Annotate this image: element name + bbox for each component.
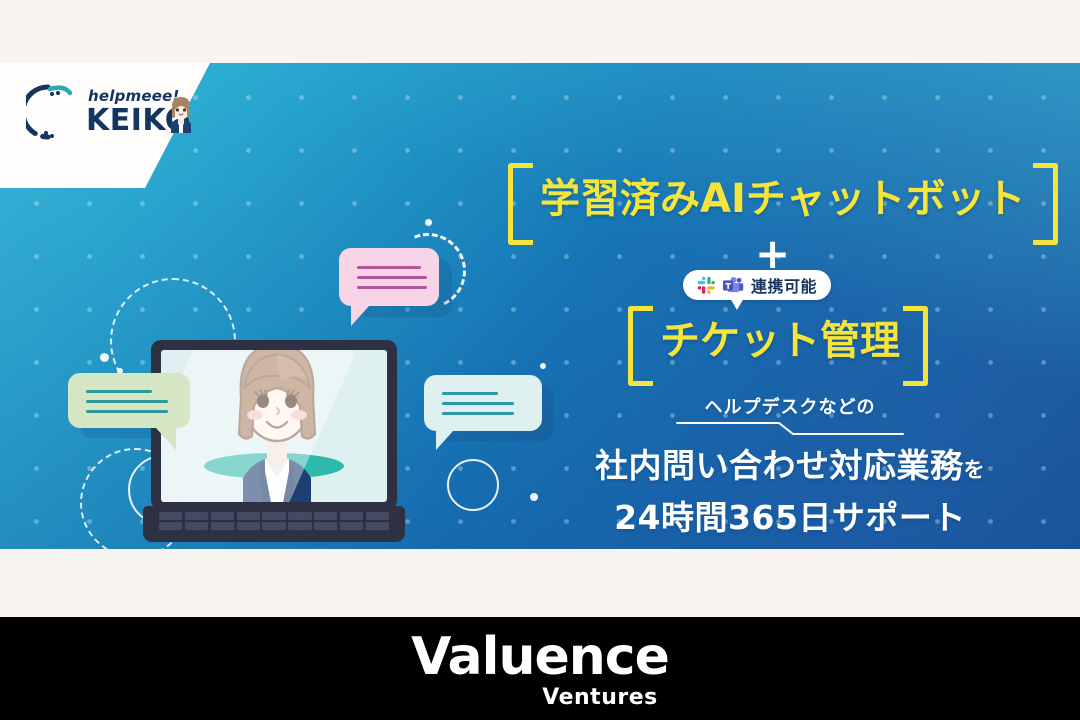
tagline-line-1: 社内問い合わせ対応業務を (500, 439, 1080, 487)
female-operator-avatar-icon (166, 95, 196, 133)
bracket-right-2-icon (903, 306, 928, 386)
tagline-small: ヘルプデスクなどの (500, 393, 1080, 419)
laptop-keyboard (159, 512, 389, 530)
sparkle-dot-3-icon (425, 219, 432, 226)
integration-badge[interactable]: 連携可能 (683, 270, 831, 300)
microsoft-teams-icon (723, 276, 744, 295)
chat-bubble-green-icon (68, 373, 190, 428)
laptop-icon (143, 340, 405, 542)
tagline-line-1-suffix: を (964, 458, 986, 482)
headline-2-group: チケット管理 (628, 306, 928, 376)
tagline-group: ヘルプデスクなどの 社内問い合わせ対応業務を 24時間365日サポート (500, 393, 1080, 539)
tagline-line-1-main: 社内問い合わせ対応業務 (595, 446, 964, 485)
laptop-screen (161, 350, 387, 502)
bracket-left-2-icon (628, 306, 653, 386)
headline-1-text: 学習済みAIチャットボット (540, 173, 1025, 225)
integration-badge-label: 連携可能 (751, 273, 817, 297)
footer-bar: Valuence Ventures (0, 617, 1080, 720)
chat-bubble-pink-icon (339, 248, 439, 306)
hero-text-column: 学習済みAIチャットボット + (500, 63, 1080, 549)
tagline-line-2: 24時間365日サポート (500, 491, 1080, 539)
logo-mark-icon (26, 81, 72, 145)
bracket-right-1-icon (1033, 163, 1058, 245)
slack-icon (697, 276, 716, 295)
headline-2-text: チケット管理 (660, 315, 900, 367)
headline-1-group: 学習済みAIチャットボット (508, 163, 1058, 235)
sparkle-dot-1-icon (100, 353, 109, 362)
tagline-underline-icon (675, 421, 905, 435)
brand-logo[interactable]: helpmeee! KEIKO (26, 75, 206, 165)
solid-circle-right-icon (447, 459, 499, 511)
banner-canvas: 学習済みAIチャットボット + (0, 0, 1080, 720)
plus-connector: + (755, 233, 790, 275)
footer-division-name: Ventures (0, 687, 1080, 709)
footer-company-name: Valuence (0, 631, 1080, 683)
bracket-left-1-icon (508, 163, 533, 245)
